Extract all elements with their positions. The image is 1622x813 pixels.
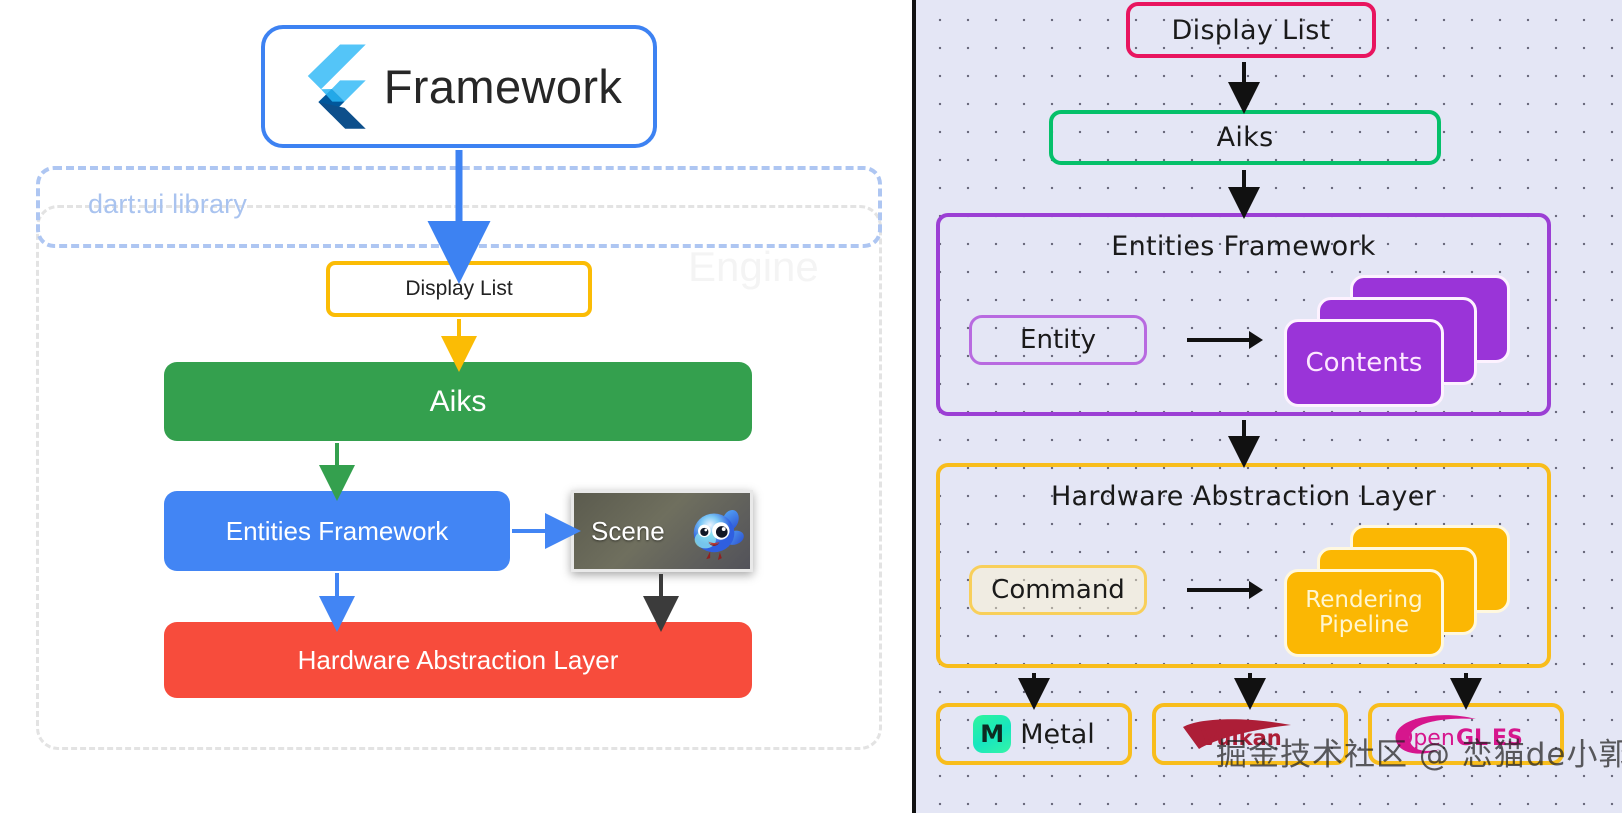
left-panel: Engine dart:ui library Framework Display… — [0, 0, 912, 813]
watermark: 掘金技术社区 @ 恋猫de小郭 — [1216, 729, 1622, 774]
diagram-canvas: Engine dart:ui library Framework Display… — [0, 0, 1622, 813]
right-panel: Display List Aiks Entities Framework Ent… — [912, 0, 1622, 813]
left-panel-edges — [0, 0, 912, 813]
right-panel-edges — [916, 0, 1622, 813]
